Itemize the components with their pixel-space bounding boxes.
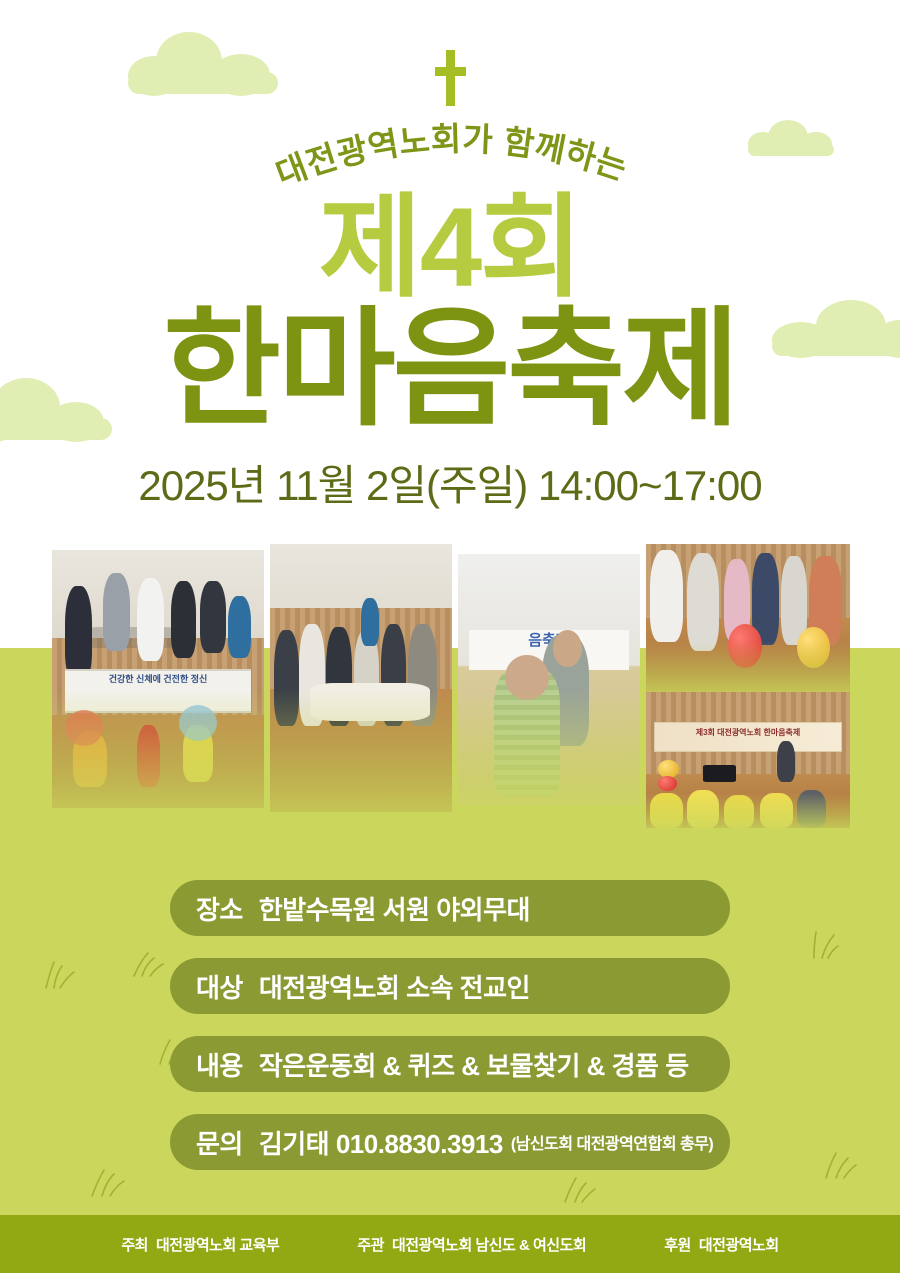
footer-sponsor-key: 후원: [664, 1234, 691, 1255]
pill-place-key: 장소: [196, 890, 243, 927]
cloud-decoration-left: [128, 32, 278, 94]
footer-sponsor: 후원 대전광역노회: [664, 1234, 778, 1255]
pill-place[interactable]: 장소 한밭수목원 서원 야외무대: [170, 880, 730, 936]
pill-contact-key: 문의: [196, 1124, 243, 1161]
grass-tuft-left-1: [40, 960, 80, 990]
pill-place-value: 한밭수목원 서원 야외무대: [259, 890, 530, 927]
event-datetime: 2025년 11월 2일(주일) 14:00~17:00: [0, 452, 900, 513]
photo-parachute: [270, 544, 452, 812]
pill-contact-note: (남신도회 대전광역연합회 총무): [511, 1130, 713, 1154]
subtitle-arc-text: 대전광역노회가 함께하는: [271, 120, 632, 192]
photo-ball-relay: [646, 544, 850, 692]
photo-stage-ceremony: 제3회 대전광역노회 한마음축제: [646, 692, 850, 828]
info-pill-list: 장소 한밭수목원 서원 야외무대 대상 대전광역노회 소속 전교인 내용 작은운…: [170, 880, 730, 1192]
photo1-banner-text: 건강한 신체에 건전한 정신: [65, 671, 252, 688]
subtitle-arc: 대전광역노회가 함께하는: [0, 112, 900, 192]
photo-jump-rope: 건강한 신체에 건전한 정신: [52, 550, 264, 808]
pill-audience-key: 대상: [196, 968, 243, 1005]
footer-organizer-key: 주관: [357, 1234, 384, 1255]
footer-organizer: 주관 대전광역노회 남신도 & 여신도회: [357, 1234, 586, 1255]
event-poster: 대전광역노회가 함께하는 제4회 한마음축제 2025년 11월 2일(주일) …: [0, 0, 900, 1273]
pill-program-value: 작은운동회 & 퀴즈 & 보물찾기 & 경품 등: [259, 1046, 689, 1083]
svg-text:대전광역노회가 함께하는: 대전광역노회가 함께하는: [271, 120, 632, 192]
grass-tuft-right-1: [806, 930, 842, 960]
footer-organizer-value: 대전광역노회 남신도 & 여신도회: [392, 1234, 586, 1255]
cross-icon: [432, 50, 468, 106]
footer-host-value: 대전광역노회 교육부: [156, 1234, 279, 1255]
grass-tuft-bottom-left: [86, 1168, 126, 1198]
title-line-1: 제4회: [0, 192, 900, 304]
footer-host-key: 주최: [121, 1234, 148, 1255]
cross-vertical-bar: [446, 50, 455, 106]
grass-tuft-left-2: [130, 950, 166, 978]
footer-sponsor-value: 대전광역노회: [699, 1234, 779, 1255]
photo-child-game: 음축제: [458, 554, 640, 806]
cross-horizontal-bar: [435, 67, 466, 76]
photo5-stage-banner: 제3회 대전광역노회 한마음축제: [654, 722, 842, 752]
photo5-stage-banner-text: 제3회 대전광역노회 한마음축제: [655, 723, 841, 742]
pill-audience[interactable]: 대상 대전광역노회 소속 전교인: [170, 958, 730, 1014]
grass-tuft-right-2: [820, 1150, 858, 1180]
footer-host: 주최 대전광역노회 교육부: [121, 1234, 279, 1255]
pill-contact-value: 김기태 010.8830.3913: [259, 1124, 503, 1161]
pill-audience-value: 대전광역노회 소속 전교인: [259, 968, 530, 1005]
pill-program-key: 내용: [196, 1046, 243, 1083]
photo-strip: 건강한 신체에 건전한 정신: [0, 540, 900, 850]
footer-credits: 주최 대전광역노회 교육부 주관 대전광역노회 남신도 & 여신도회 후원 대전…: [0, 1215, 900, 1273]
title-line-2: 한마음축제: [0, 306, 900, 434]
pill-contact[interactable]: 문의 김기태 010.8830.3913 (남신도회 대전광역연합회 총무): [170, 1114, 730, 1170]
pill-program[interactable]: 내용 작은운동회 & 퀴즈 & 보물찾기 & 경품 등: [170, 1036, 730, 1092]
